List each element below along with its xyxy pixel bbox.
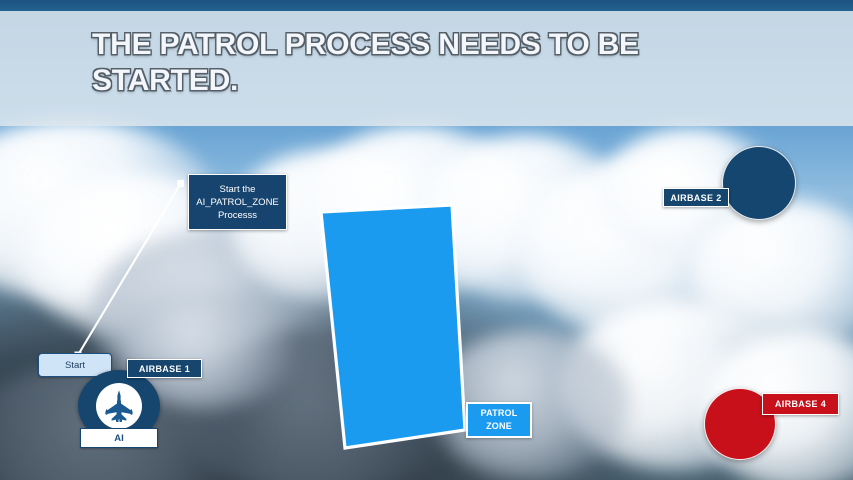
airbase-1-label-text: AIRBASE 1	[139, 364, 190, 374]
airbase-1-label[interactable]: AIRBASE 1	[127, 359, 202, 378]
page-title: THE PATROL PROCESS NEEDS TO BE STARTED.	[92, 27, 792, 99]
top-accent-strip	[0, 0, 853, 11]
slide-canvas: THE PATROL PROCESS NEEDS TO BE STARTED. …	[0, 0, 853, 480]
ai-node-label[interactable]: AI	[80, 428, 158, 448]
airbase-2-label[interactable]: AIRBASE 2	[663, 188, 729, 207]
callout-line-2: AI_PATROL_ZONE	[196, 196, 279, 209]
patrol-zone-label-line-2: ZONE	[486, 420, 512, 433]
airbase-4-label[interactable]: AIRBASE 4	[762, 393, 839, 415]
airbase-2-label-text: AIRBASE 2	[670, 193, 721, 203]
callout-line-3: Processs	[218, 209, 257, 222]
patrol-zone-polygon[interactable]	[300, 190, 490, 470]
start-button-label: Start	[65, 360, 85, 371]
airbase-2-circle[interactable]	[722, 146, 796, 220]
ai-node-disc	[96, 383, 142, 429]
patrol-zone-label[interactable]: PATROL ZONE	[466, 402, 532, 438]
fighter-jet-icon	[104, 389, 134, 423]
airbase-4-label-text: AIRBASE 4	[775, 399, 826, 409]
callout-box[interactable]: Start the AI_PATROL_ZONE Processs	[188, 174, 287, 230]
ai-node-label-text: AI	[114, 433, 124, 444]
patrol-zone-label-line-1: PATROL	[481, 407, 518, 420]
callout-line-1: Start the	[220, 183, 256, 196]
